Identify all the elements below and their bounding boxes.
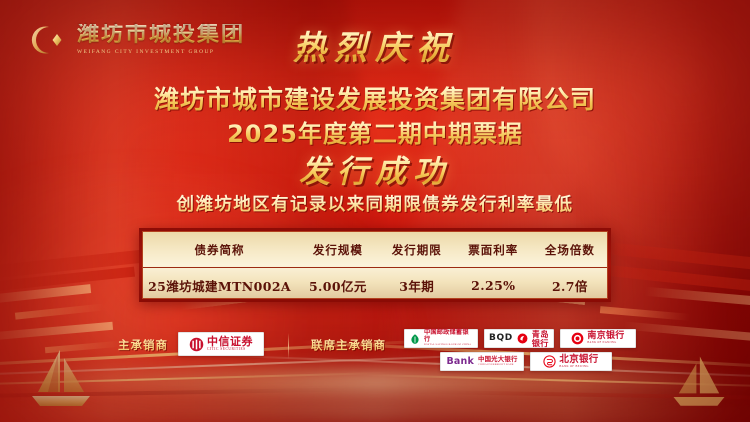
- bank-of-beijing-logo: 北京银行 BANK OF BEIJING: [530, 352, 612, 371]
- citic-securities-logo-icon: [189, 337, 204, 352]
- sailboat-icon: [670, 354, 728, 410]
- bank-of-nanjing-name-cn: 南京银行: [587, 332, 624, 341]
- underwriters-section: 主承销商 中信证券 CITIC SECURITIES 联席主承销商: [118, 330, 638, 371]
- everbright-bank-logo: Bank 中国光大银行 CHINA EVERBRIGHT BANK: [440, 352, 524, 371]
- cell-coupon-rate: 2.25%: [454, 268, 533, 304]
- citic-securities-logo: 中信证券 CITIC SECURITIES: [178, 332, 264, 356]
- headline-issue: 2025年度第二期中期票据: [0, 114, 750, 149]
- everbright-bank-abbr: Bank: [446, 357, 474, 367]
- citic-securities-name-en: CITIC SECURITIES: [207, 348, 246, 352]
- headline-celebrate: 热烈庆祝: [0, 21, 750, 69]
- column-header-issue-size: 发行规模: [296, 232, 380, 268]
- cell-issue-term: 3年期: [380, 268, 454, 304]
- bank-of-qingdao-abbr: BQD: [489, 334, 513, 343]
- bank-of-nanjing-logo-icon: [571, 332, 584, 345]
- cell-issue-size: 5.00亿元: [296, 268, 380, 304]
- cell-bond-name: 25潍坊城建MTN002A: [143, 268, 296, 304]
- joint-underwriter-logos: 中国邮政储蓄银行 POSTAL SAVINGS BANK OF CHINA BQ…: [404, 329, 636, 371]
- table-row: 25潍坊城建MTN002A 5.00亿元 3年期 2.25% 2.7倍: [143, 268, 607, 304]
- headline-company: 潍坊市城市建设发展投资集团有限公司: [0, 80, 750, 116]
- celebration-poster: 潍坊市城投集团 WEIFANG CITY INVESTMENT GROUP 热烈…: [0, 0, 750, 422]
- bank-of-nanjing-name-en: BANK OF NANJING: [587, 342, 616, 345]
- divider: [288, 333, 289, 359]
- bank-of-beijing-name-en: BANK OF BEIJING: [559, 366, 588, 369]
- postal-savings-bank-name-cn: 中国邮政储蓄银行: [424, 330, 473, 342]
- bank-of-qingdao-name-cn: 青岛银行: [532, 330, 549, 346]
- bond-summary-table: 债券简称 发行规模 发行期限 票面利率 全场倍数 25潍坊城建MTN002A 5…: [139, 228, 611, 302]
- postal-savings-bank-logo-icon: [409, 333, 421, 345]
- column-header-coupon-rate: 票面利率: [454, 232, 533, 268]
- bank-of-qingdao-logo: BQD 青岛银行: [484, 329, 554, 348]
- column-header-bond-name: 债券简称: [143, 232, 296, 268]
- headline-success: 发行成功: [0, 146, 750, 191]
- cell-subscription-multiple: 2.7倍: [533, 268, 607, 304]
- sailboat-icon: [28, 348, 94, 410]
- bank-of-qingdao-logo-icon: [517, 333, 528, 344]
- postal-savings-bank-name-en: POSTAL SAVINGS BANK OF CHINA: [424, 344, 471, 347]
- bank-of-beijing-name-cn: 北京银行: [559, 355, 598, 365]
- table-header-row: 债券简称 发行规模 发行期限 票面利率 全场倍数: [143, 232, 607, 268]
- joint-underwriter-label: 联席主承销商: [311, 330, 386, 353]
- everbright-bank-name-en: CHINA EVERBRIGHT BANK: [478, 364, 514, 366]
- postal-savings-bank-logo: 中国邮政储蓄银行 POSTAL SAVINGS BANK OF CHINA: [404, 329, 478, 348]
- column-header-issue-term: 发行期限: [380, 232, 454, 268]
- bank-of-beijing-logo-icon: [543, 355, 556, 368]
- bank-logo-row-1: 中国邮政储蓄银行 POSTAL SAVINGS BANK OF CHINA BQ…: [404, 329, 636, 348]
- everbright-bank-name-cn: 中国光大银行: [478, 356, 518, 362]
- bank-logo-row-2: Bank 中国光大银行 CHINA EVERBRIGHT BANK: [440, 352, 636, 371]
- headline-subtitle: 创潍坊地区有记录以来同期限债券发行利率最低: [0, 191, 750, 216]
- bank-of-nanjing-logo: 南京银行 BANK OF NANJING: [560, 329, 636, 348]
- column-header-subscription-multiple: 全场倍数: [533, 232, 607, 268]
- citic-securities-name-cn: 中信证券: [207, 336, 253, 347]
- lead-underwriter-label: 主承销商: [118, 330, 168, 353]
